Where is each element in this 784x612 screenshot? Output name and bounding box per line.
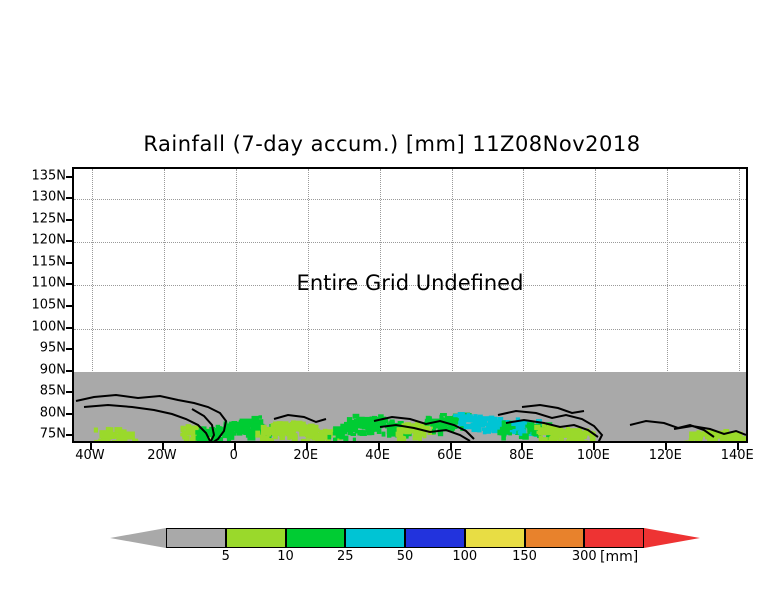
rainfall-map-canvas	[74, 169, 748, 443]
y-axis-ticks	[0, 167, 73, 443]
rainfall-map-figure: Rainfall (7-day accum.) [mm] 11Z08Nov201…	[0, 0, 784, 612]
colorbar-high-arrow	[644, 528, 700, 548]
colorbar-band	[405, 528, 465, 548]
x-axis-tick-mark	[90, 443, 92, 450]
y-axis-tick-mark	[66, 413, 73, 415]
plot-area: Entire Grid Undefined	[72, 167, 748, 443]
x-axis-tick-mark	[737, 443, 739, 450]
y-axis-tick-mark	[66, 240, 73, 242]
colorbar-tick-label: 25	[337, 549, 354, 564]
overlay-message: Entire Grid Undefined	[74, 271, 746, 295]
x-axis-tick-mark	[162, 443, 164, 450]
x-axis-tick-mark	[234, 443, 236, 450]
colorbar-tick-label: 5	[222, 549, 230, 564]
colorbar-band	[345, 528, 405, 548]
page-title: Rainfall (7-day accum.) [mm] 11Z08Nov201…	[0, 132, 784, 156]
colorbar-tick-label: 150	[512, 549, 537, 564]
x-axis-tick-mark	[521, 443, 523, 450]
colorbar-tick-label: 300	[572, 549, 597, 564]
y-axis-tick-mark	[66, 283, 73, 285]
colorbar-tick-label: 100	[452, 549, 477, 564]
colorbar-tick-label: 10	[277, 549, 294, 564]
colorbar-tick-labels: 5102550100150300	[166, 549, 644, 567]
y-axis-tick-mark	[66, 370, 73, 372]
y-axis-tick-mark	[66, 262, 73, 264]
y-axis-tick-mark	[66, 305, 73, 307]
colorbar-band	[465, 528, 525, 548]
colorbar-band	[166, 528, 226, 548]
y-axis-tick-mark	[66, 197, 73, 199]
x-axis-ticks	[72, 443, 748, 451]
y-axis-tick-mark	[66, 176, 73, 178]
colorbar-unit-label: [mm]	[600, 549, 638, 565]
x-axis-tick-mark	[593, 443, 595, 450]
colorbar	[166, 528, 644, 550]
y-axis-tick-mark	[66, 327, 73, 329]
colorbar-tick-label: 50	[397, 549, 414, 564]
y-axis-tick-mark	[66, 219, 73, 221]
x-axis-tick-mark	[378, 443, 380, 450]
y-axis-tick-mark	[66, 434, 73, 436]
colorbar-band	[226, 528, 286, 548]
x-axis-labels: 40W20W020E40E60E80E100E120E140E	[72, 448, 748, 468]
x-axis-tick-mark	[665, 443, 667, 450]
colorbar-band	[584, 528, 644, 548]
y-axis-tick-mark	[66, 391, 73, 393]
colorbar-band	[286, 528, 346, 548]
plot-inner: Entire Grid Undefined	[74, 169, 746, 441]
colorbar-band	[525, 528, 585, 548]
x-axis-tick-mark	[306, 443, 308, 450]
colorbar-low-arrow	[110, 528, 166, 548]
y-axis-tick-mark	[66, 348, 73, 350]
x-axis-tick-mark	[450, 443, 452, 450]
